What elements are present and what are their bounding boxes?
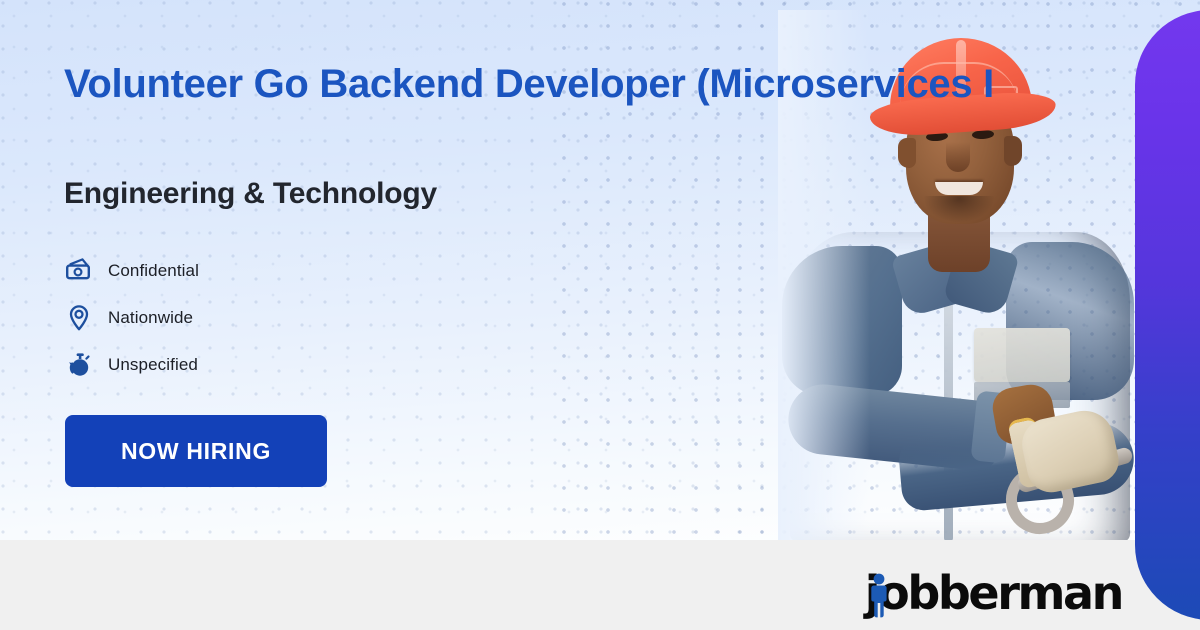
jobberman-wordmark: jobberman <box>865 570 1122 616</box>
job-category: Engineering & Technology <box>64 177 437 211</box>
meta-label-location: Nationwide <box>108 308 193 328</box>
meta-item-salary: Confidential <box>62 252 199 290</box>
meta-label-salary: Confidential <box>108 261 199 281</box>
job-ad-banner: Volunteer Go Backend Developer (Microser… <box>0 0 1200 630</box>
meta-item-duration: Unspecified <box>62 346 199 384</box>
worker-right-ear <box>1004 136 1022 166</box>
now-hiring-button[interactable]: NOW HIRING <box>65 415 327 487</box>
worker-left-ear <box>898 138 916 168</box>
now-hiring-button-label: NOW HIRING <box>121 438 271 465</box>
meta-item-location: Nationwide <box>62 299 199 337</box>
job-meta-list: Confidential Nationwide <box>62 252 199 393</box>
photo-bottom-fade <box>778 500 1138 540</box>
coveralls-chest-pocket <box>974 328 1070 382</box>
salary-cash-icon <box>62 254 96 288</box>
page-title: Volunteer Go Backend Developer (Microser… <box>64 60 1184 108</box>
jobberman-person-icon <box>868 572 890 618</box>
stopwatch-icon <box>62 348 96 382</box>
jobberman-logo[interactable]: jobberman <box>865 560 1122 616</box>
worker-nose <box>946 142 970 172</box>
meta-label-duration: Unspecified <box>108 355 198 375</box>
worker-smile <box>935 182 983 195</box>
location-pin-icon <box>62 301 96 335</box>
